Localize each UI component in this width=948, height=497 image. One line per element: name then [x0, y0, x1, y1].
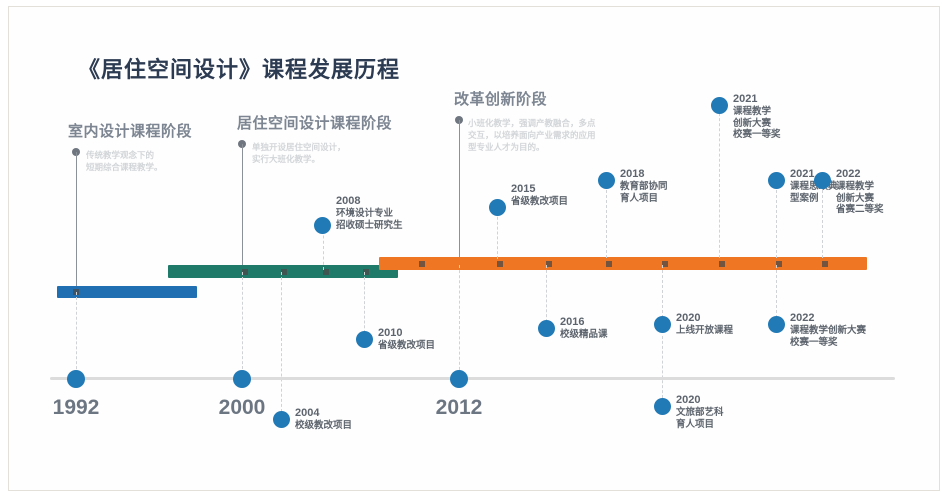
- timeline-axis: [50, 377, 895, 380]
- phase-desc-3: 小班化教学，强调产教融合，多点 交互，以培养面向产业需求的应用 型专业人才为目的…: [468, 113, 596, 153]
- phase-desc-2: 单独开设居住空间设计， 实行大班化教学。: [252, 137, 346, 165]
- phase-bar-3-tick-1: [419, 261, 425, 267]
- phase-title-1: 室内设计课程阶段: [68, 120, 192, 141]
- event-label-2021-contest-line3: 校赛一等奖: [733, 129, 781, 141]
- event-dot-2021-ideology: [768, 172, 785, 189]
- phase-bar-3-tick-2: [497, 261, 503, 267]
- connector-2020-cultural: [662, 336, 663, 398]
- event-text-2015: 2015 省级教改项目: [511, 183, 568, 208]
- event-year-2016: 2016: [560, 316, 608, 329]
- event-label-2008-line2: 招收硕士研究生: [336, 220, 403, 232]
- event-label-2015-line1: 省级教改项目: [511, 196, 568, 208]
- connector-2021-ideology: [776, 180, 777, 258]
- phase-stem-line-1: [76, 152, 77, 286]
- event-label-2020-online-line1: 上线开放课程: [676, 325, 733, 337]
- connector-2020-online: [662, 265, 663, 323]
- phase-bar-1: [57, 286, 197, 298]
- axis-dot-2012[interactable]: [450, 370, 468, 388]
- event-dot-2015: [489, 199, 506, 216]
- event-text-2004: 2004 校级教改项目: [295, 407, 352, 432]
- event-text-2020-cultural: 2020 文旅部艺科 育人项目: [676, 394, 724, 430]
- connector-2016: [546, 265, 547, 327]
- event-dot-2021-contest: [711, 97, 728, 114]
- connector-2000: [242, 272, 243, 374]
- axis-year-2000: 2000: [219, 396, 266, 420]
- event-text-2021-contest: 2021 课程教学 创新大赛 校赛一等奖: [733, 93, 781, 141]
- phase-stem-line-3: [459, 120, 460, 262]
- event-label-2021-contest-line1: 课程教学: [733, 106, 781, 118]
- event-label-2022-school-line1: 课程教学创新大赛: [790, 325, 866, 337]
- axis-dot-1992[interactable]: [67, 370, 85, 388]
- event-year-2004: 2004: [295, 407, 352, 420]
- event-label-2022-school-line2: 校赛一等奖: [790, 337, 866, 349]
- connector-2004: [281, 272, 282, 412]
- event-year-2022-province: 2022: [836, 168, 884, 181]
- event-year-2022-school: 2022: [790, 312, 866, 325]
- event-text-2020-online: 2020 上线开放课程: [676, 312, 733, 337]
- phase-title-3: 改革创新阶段: [454, 88, 547, 109]
- phase-bar-3-tick-8: [822, 261, 828, 267]
- event-text-2018: 2018 教育部协同 育人项目: [620, 168, 668, 204]
- event-label-2008-line1: 环境设计专业: [336, 208, 403, 220]
- phase-desc-3-line1: 小班化教学，强调产教融合，多点: [468, 117, 596, 129]
- event-label-2021-ideology-line2: 型案例: [790, 193, 838, 205]
- phase-bar-3-tick-6: [719, 261, 725, 267]
- event-dot-2004: [273, 411, 290, 428]
- phase-stem-line-2: [242, 144, 243, 270]
- event-dot-2022-province: [814, 172, 831, 189]
- phase-desc-1: 传统教学观念下的 短期综合课程教学。: [86, 145, 163, 173]
- connector-2021-contest: [719, 108, 720, 258]
- axis-dot-2000[interactable]: [233, 370, 251, 388]
- event-text-2016: 2016 校级精品课: [560, 316, 608, 341]
- connector-2012: [459, 265, 460, 375]
- phase-desc-2-line2: 实行大班化教学。: [252, 153, 346, 165]
- event-text-2022-school: 2022 课程教学创新大赛 校赛一等奖: [790, 312, 866, 348]
- event-label-2022-province-line3: 省赛二等奖: [836, 204, 884, 216]
- event-dot-2020-online: [654, 316, 671, 333]
- event-year-2010: 2010: [378, 327, 435, 340]
- event-dot-2010: [356, 331, 373, 348]
- connector-2010: [364, 272, 365, 338]
- event-year-2018: 2018: [620, 168, 668, 181]
- event-label-2016-line1: 校级精品课: [560, 329, 608, 341]
- axis-year-2012: 2012: [436, 396, 483, 420]
- phase-desc-2-line1: 单独开设居住空间设计，: [252, 141, 346, 153]
- event-year-2008: 2008: [336, 195, 403, 208]
- connector-2018: [606, 180, 607, 258]
- event-text-2010: 2010 省级教改项目: [378, 327, 435, 352]
- connector-2022-school: [776, 265, 777, 323]
- event-year-2015: 2015: [511, 183, 568, 196]
- slide-canvas: 《居住空间设计》课程发展历程 室内设计课程阶段 传统教学观念下的 短期综合课程教…: [0, 0, 948, 497]
- phase-desc-1-line1: 传统教学观念下的: [86, 149, 163, 161]
- event-label-2022-province-line1: 课程教学: [836, 181, 884, 193]
- phase-desc-3-line2: 交互，以培养面向产业需求的应用: [468, 129, 596, 141]
- phase-bar-3: [379, 257, 867, 270]
- event-dot-2022-school: [768, 316, 785, 333]
- event-label-2021-contest-line2: 创新大赛: [733, 118, 781, 130]
- event-year-2020-cultural: 2020: [676, 394, 724, 407]
- event-label-2018-line1: 教育部协同: [620, 181, 668, 193]
- event-text-2021-ideology: 2021 课程思政典 型案例: [790, 168, 838, 204]
- event-label-2004-line1: 校级教改项目: [295, 420, 352, 432]
- event-text-2008: 2008 环境设计专业 招收硕士研究生: [336, 195, 403, 231]
- event-text-2022-province: 2022 课程教学 创新大赛 省赛二等奖: [836, 168, 884, 216]
- phase-heading-1: 室内设计课程阶段: [68, 120, 192, 141]
- event-year-2020-online: 2020: [676, 312, 733, 325]
- phase-title-2: 居住空间设计课程阶段: [237, 112, 392, 133]
- phase-desc-3-line3: 型专业人才为目的。: [468, 141, 596, 153]
- phase-heading-2: 居住空间设计课程阶段: [237, 112, 392, 133]
- event-label-2010-line1: 省级教改项目: [378, 340, 435, 352]
- event-label-2020-cultural-line1: 文旅部艺科: [676, 407, 724, 419]
- event-label-2018-line2: 育人项目: [620, 193, 668, 205]
- page-title: 《居住空间设计》课程发展历程: [78, 52, 400, 84]
- event-label-2022-province-line2: 创新大赛: [836, 193, 884, 205]
- phase-bar-3-tick-4: [606, 261, 612, 267]
- axis-year-1992: 1992: [53, 396, 100, 420]
- event-dot-2018: [598, 172, 615, 189]
- event-dot-2020-cultural: [654, 398, 671, 415]
- event-year-2021-contest: 2021: [733, 93, 781, 106]
- phase-desc-1-line2: 短期综合课程教学。: [86, 161, 163, 173]
- event-dot-2016: [538, 320, 555, 337]
- event-label-2020-cultural-line2: 育人项目: [676, 419, 724, 431]
- event-dot-2008: [314, 217, 331, 234]
- phase-heading-3: 改革创新阶段: [454, 88, 547, 109]
- connector-1992: [76, 292, 77, 374]
